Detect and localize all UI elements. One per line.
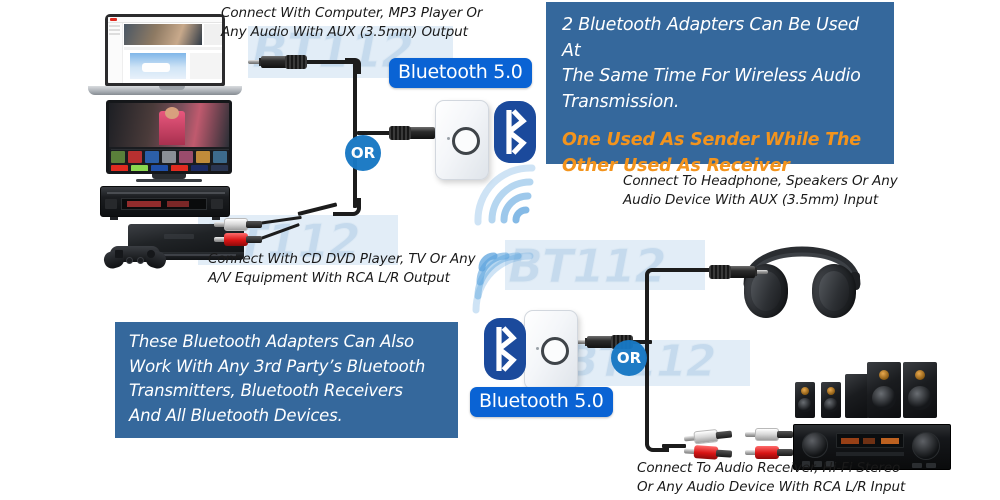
caption-bottom-right: Connect To Audio Receiver, Hi-Fi Stereo … <box>637 459 957 497</box>
info-panel-bottom-left-main: These Bluetooth Adapters Can Also Work W… <box>129 330 444 428</box>
tv-foot <box>136 179 202 182</box>
or-badge-right: OR <box>611 340 647 376</box>
rca-plug-white-left <box>214 218 262 231</box>
speaker-satellite-left <box>795 382 815 418</box>
bluetooth-adapter-sender[interactable] <box>435 100 489 180</box>
dvd-player-device <box>100 186 232 220</box>
speaker-bookshelf-right <box>903 362 937 418</box>
dvd-player-body <box>100 186 230 217</box>
info-panel-top-right-accent: One Used As Sender While The Other Used … <box>562 128 878 179</box>
adapter-button-bottom[interactable] <box>541 337 569 365</box>
cable-to-headphones <box>657 268 715 272</box>
laptop-screen <box>105 14 225 86</box>
tv-frame <box>106 100 232 174</box>
info-panel-bottom-left: These Bluetooth Adapters Can Also Work W… <box>115 322 458 438</box>
cable-to-rca-right <box>662 444 686 448</box>
info-panel-top-right-main: 2 Bluetooth Adapters Can Be Used At The … <box>562 13 878 115</box>
tv-device <box>106 100 238 184</box>
caption-top-left: Connect With Computer, MP3 Player Or Any… <box>221 4 521 42</box>
bluetooth-adapter-receiver[interactable] <box>524 310 578 390</box>
rca-plug-red-right-2 <box>745 446 793 459</box>
tv-screen-content <box>109 103 229 171</box>
receiver-knob-right <box>912 432 940 460</box>
speaker-subwoofer <box>845 374 869 418</box>
or-badge-left: OR <box>345 135 381 171</box>
receiver-knob-left <box>802 432 828 458</box>
rca-plug-white-right <box>683 428 732 446</box>
game-controller <box>104 242 166 268</box>
adapter-button-top[interactable] <box>452 127 480 155</box>
infographic-canvas: BT112 BT112 BT112 BT112 <box>0 0 1000 500</box>
speaker-satellite-right <box>821 382 841 418</box>
adapter-led-top <box>447 137 450 140</box>
bluetooth-version-badge-top: Bluetooth 5.0 <box>389 58 532 88</box>
bluetooth-version-badge-bottom: Bluetooth 5.0 <box>470 387 613 417</box>
bluetooth-logo-bottom-icon <box>484 318 526 380</box>
laptop-notch <box>159 86 185 90</box>
receiver-display <box>836 433 904 448</box>
rca-plug-red-left <box>214 233 262 246</box>
laptop-screen-content <box>108 17 222 83</box>
bluetooth-logo-top-icon <box>494 101 536 163</box>
aux-plug-headphones <box>708 265 768 280</box>
aux-plug-laptop <box>248 55 308 70</box>
info-panel-top-right: 2 Bluetooth Adapters Can Be Used At The … <box>546 2 894 164</box>
speaker-system-device <box>795 360 935 422</box>
caption-mid-left: Connect With CD DVD Player, TV Or Any A/… <box>208 250 508 288</box>
speaker-bookshelf-left <box>867 362 901 418</box>
adapter-led-bottom <box>536 347 539 350</box>
rca-plug-white-right-2 <box>745 428 793 441</box>
